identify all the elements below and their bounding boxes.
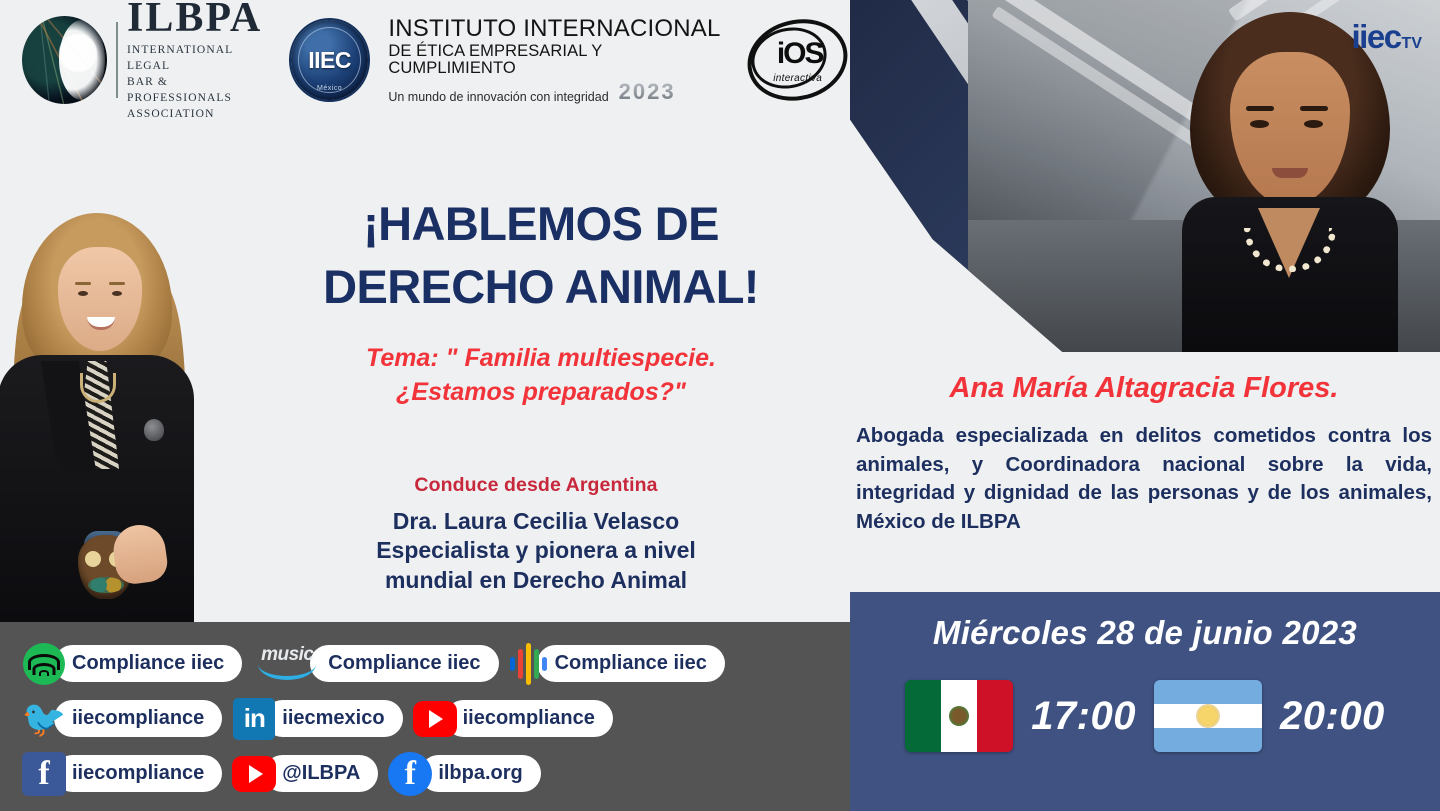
event-date: Miércoles 28 de junio 2023 [850, 592, 1440, 652]
laura-velasco-photo [0, 205, 222, 625]
social-item-facebook-iiec[interactable]: f iiecompliance [22, 752, 222, 796]
page-title-line2: DERECHO ANIMAL! [236, 256, 846, 319]
conduce-label: Conduce desde Argentina [236, 474, 836, 497]
linkedin-handle: iiecmexico [264, 700, 402, 737]
social-item-youtube-ilbpa[interactable]: @ILBPA [232, 752, 378, 796]
globe-icon [22, 16, 107, 104]
twitter-icon: 🐦 [22, 699, 66, 739]
speaker-name: Ana María Altagracia Flores. [856, 372, 1432, 405]
ios-subtitle: interactiva [745, 73, 850, 84]
linkedin-icon: in [232, 697, 276, 741]
linkedin-glyph: in [233, 698, 275, 740]
spotify-handle: Compliance iiec [54, 645, 242, 682]
speaker-webcam-image [1168, 12, 1418, 352]
amazon-music-word: music [261, 644, 313, 666]
facebook-glyph: f [388, 752, 432, 796]
iiec-seal-acronym: IIEC [308, 47, 351, 74]
ilbpa-line1: INTERNATIONAL LEGAL [127, 43, 275, 75]
ios-wordmark: iOS [777, 37, 823, 71]
instituto-tagline: Un mundo de innovación con integridad [388, 91, 608, 104]
iiec-seal-country: México [291, 85, 369, 92]
iiectv-main: iiec [1352, 18, 1401, 56]
speaker-bio: Abogada especializada en delitos cometid… [856, 422, 1432, 537]
social-item-twitter[interactable]: 🐦 iiecompliance [22, 699, 222, 739]
facebook-ilbpa-handle: ilbpa.org [420, 755, 540, 792]
logo-bar: ILBPA INTERNATIONAL LEGAL BAR & PROFESSI… [0, 0, 850, 120]
webinar-poster: ILBPA INTERNATIONAL LEGAL BAR & PROFESSI… [0, 0, 1440, 811]
video-panel: iiec TV [850, 0, 1440, 352]
host-role-line1: Especialista y pionera a nivel [236, 536, 836, 565]
facebook-iiec-handle: iiecompliance [54, 755, 222, 792]
schedule-band: Miércoles 28 de junio 2023 17:00 20:00 [850, 592, 1440, 811]
iiectv-tv: TV [1402, 35, 1422, 53]
ilbpa-line2: BAR & PROFESSIONALS [127, 75, 275, 107]
ilbpa-logo: ILBPA INTERNATIONAL LEGAL BAR & PROFESSI… [22, 0, 275, 123]
tema-line1: Tema: " Familia multiespecie. [236, 341, 846, 375]
social-item-youtube[interactable]: iiecompliance [413, 697, 613, 741]
youtube-icon [413, 697, 457, 741]
amazon-music-handle: Compliance iiec [310, 645, 498, 682]
social-item-amazon-music[interactable]: music Compliance iiec [252, 644, 498, 684]
facebook-icon: f [22, 752, 66, 796]
youtube-ilbpa-handle: @ILBPA [264, 755, 378, 792]
speaker-info: Ana María Altagracia Flores. Abogada esp… [856, 372, 1432, 537]
social-item-google-podcasts[interactable]: Compliance iiec [509, 642, 725, 686]
ilbpa-acronym: ILBPA [127, 0, 275, 39]
mexico-flag [905, 680, 1013, 752]
spotify-icon [22, 642, 66, 686]
social-row: f iiecompliance @ILBPA f ilbpa.org [22, 752, 838, 796]
iiec-seal-icon: IIEC México [291, 20, 369, 100]
host-role-line2: mundial en Derecho Animal [236, 566, 836, 595]
host-block: Conduce desde Argentina Dra. Laura Cecil… [236, 474, 836, 595]
title-block: ¡HABLEMOS DE DERECHO ANIMAL! Tema: " Fam… [236, 193, 846, 409]
mexico-crest-icon [949, 706, 969, 726]
facebook-glyph: f [22, 752, 66, 796]
social-item-facebook-ilbpa[interactable]: f ilbpa.org [388, 752, 540, 796]
page-title-line1: ¡HABLEMOS DE [236, 193, 846, 256]
youtube-icon [232, 752, 276, 796]
instituto-logo: INSTITUTO INTERNACIONAL DE ÉTICA EMPRESA… [388, 17, 723, 104]
facebook-icon: f [388, 752, 432, 796]
twitter-handle: iiecompliance [54, 700, 222, 737]
google-podcasts-handle: Compliance iiec [537, 645, 725, 682]
tema-line2: ¿Estamos preparados?" [236, 375, 846, 409]
argentina-flag [1154, 680, 1262, 752]
logo-divider [116, 22, 118, 98]
google-podcasts-icon [509, 642, 549, 686]
argentina-sun-icon [1198, 706, 1218, 726]
ios-interactiva-icon: iOS interactiva [745, 14, 850, 106]
social-row: 🐦 iiecompliance in iiecmexico iiecomplia… [22, 697, 838, 741]
social-bar: Compliance iiec music Compliance iiec Co… [0, 622, 850, 811]
amazon-music-icon: music [252, 644, 322, 684]
social-row: Compliance iiec music Compliance iiec Co… [22, 642, 838, 686]
instituto-year: 2023 [619, 81, 676, 103]
social-item-linkedin[interactable]: in iiecmexico [232, 697, 402, 741]
social-item-spotify[interactable]: Compliance iiec [22, 642, 242, 686]
youtube-handle: iiecompliance [445, 700, 613, 737]
mexico-time: 17:00 [1031, 694, 1136, 739]
instituto-line2: DE ÉTICA EMPRESARIAL Y CUMPLIMIENTO [388, 43, 723, 77]
ilbpa-line3: ASSOCIATION [127, 107, 275, 123]
host-name: Dra. Laura Cecilia Velasco [236, 507, 836, 536]
iiectv-logo: iiec TV [1352, 18, 1423, 56]
argentina-time: 20:00 [1280, 694, 1385, 739]
instituto-line1: INSTITUTO INTERNACIONAL [388, 17, 723, 41]
